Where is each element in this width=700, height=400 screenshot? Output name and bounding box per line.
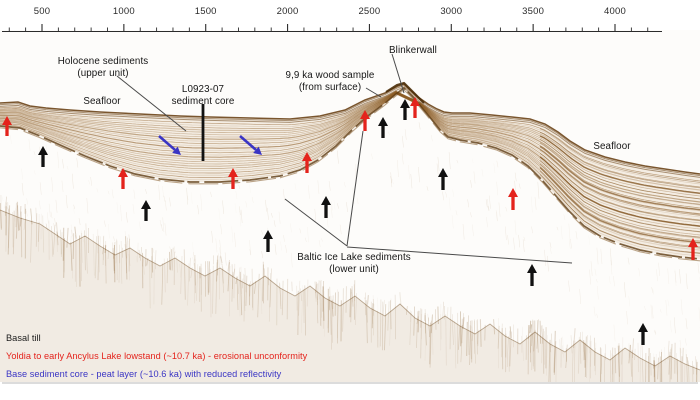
black-arrow-7 [527, 264, 537, 286]
red-arrow-2 [228, 168, 238, 189]
black-arrow-8 [638, 323, 648, 345]
sediment-core-marker [202, 104, 205, 161]
annotation-wood-sample: 9,9 ka wood sample(from surface) [286, 70, 375, 93]
annotation-wood-sample-line-0: 9,9 ka wood sample [286, 70, 375, 82]
blinkerwall-leader [392, 54, 404, 93]
annotation-core-label-line-0: L0923-07 [172, 84, 235, 96]
red-arrow-7 [688, 238, 698, 260]
red-arrow-3 [302, 152, 312, 173]
sediment-core-bar [202, 104, 205, 161]
baltic-leader-up [347, 131, 363, 246]
annotation-core-label-line-1: sediment core [172, 96, 235, 108]
axis-tick-label-2000: 2000 [277, 6, 299, 17]
black-arrow-1 [141, 200, 151, 221]
black-arrow-2 [263, 230, 273, 252]
annotation-blinkerwall-line-0: Blinkerwall [389, 45, 437, 57]
axis-tick-label-4000: 4000 [604, 6, 626, 17]
axis-tick-label-1500: 1500 [195, 6, 217, 17]
legend-item-yoldia-ancylus: Yoldia to early Ancylus Lake lowstand (~… [6, 351, 307, 361]
axis-tick-label-3500: 3500 [522, 6, 544, 17]
annotation-seafloor-right-line-0: Seafloor [593, 141, 630, 153]
annotation-holocene: Holocene sediments(upper unit) [58, 56, 149, 79]
red-arrow-5 [410, 97, 420, 118]
axis-tick-label-500: 500 [34, 6, 50, 17]
annotation-core-label: L0923-07sediment core [172, 84, 235, 107]
legend-item-basal-till: Basal till [6, 333, 41, 343]
annotation-seafloor-left-line-0: Seafloor [83, 96, 120, 108]
annotation-baltic-ice-lake-line-1: (lower unit) [297, 264, 411, 276]
axis-tick-label-3000: 3000 [440, 6, 462, 17]
legend-item-peat-layer: Base sediment core - peat layer (~10.6 k… [6, 369, 281, 379]
baltic-leader-left [285, 199, 347, 246]
black-arrow-3 [321, 196, 331, 218]
annotation-seafloor-left: Seafloor [83, 96, 120, 108]
black-arrow-4 [378, 117, 388, 138]
red-arrow-1 [118, 168, 128, 189]
red-arrow-0 [2, 116, 12, 136]
seismic-profile-figure: 5001000150020002500300035004000 Holocene… [0, 0, 700, 400]
annotation-seafloor-right: Seafloor [593, 141, 630, 153]
black-arrow-group [38, 99, 648, 345]
axis-tick-label-2500: 2500 [358, 6, 380, 17]
annotation-blinkerwall: Blinkerwall [389, 45, 437, 57]
blue-arrow-shaft-0 [159, 136, 175, 150]
annotation-holocene-line-1: (upper unit) [58, 68, 149, 80]
blue-arrow-shaft-1 [240, 136, 256, 150]
black-arrow-6 [438, 168, 448, 190]
blue-arrow-group [159, 136, 262, 155]
annotation-baltic-ice-lake: Baltic Ice Lake sediments(lower unit) [297, 252, 411, 275]
annotation-holocene-line-0: Holocene sediments [58, 56, 149, 68]
annotation-baltic-ice-lake-line-0: Baltic Ice Lake sediments [297, 252, 411, 264]
red-arrow-6 [508, 188, 518, 210]
axis-tick-label-1000: 1000 [113, 6, 135, 17]
annotation-wood-sample-line-1: (from surface) [286, 82, 375, 94]
black-arrow-0 [38, 146, 48, 167]
red-arrow-group [2, 97, 698, 260]
red-arrow-4 [360, 110, 370, 131]
black-arrow-5 [400, 99, 410, 120]
